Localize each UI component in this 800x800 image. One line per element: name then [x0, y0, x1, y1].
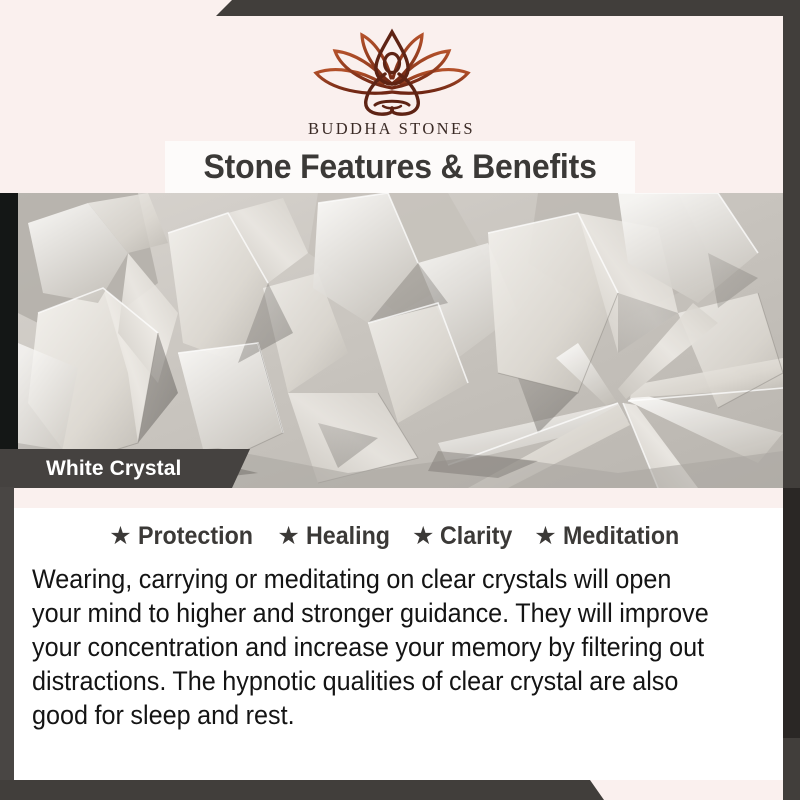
- benefit-label: Healing: [306, 522, 390, 551]
- benefits-row: ★ Protection ★ Healing ★ Clarity ★ Medit…: [14, 517, 783, 555]
- description-paragraph: Wearing, carrying or meditating on clear…: [32, 562, 726, 732]
- brand-name: BUDDHA STONES: [308, 119, 475, 139]
- benefit-label: Clarity: [440, 522, 512, 551]
- benefit-item-healing: ★ Healing: [277, 522, 396, 551]
- photo-caption-label: White Crystal: [46, 457, 182, 481]
- bottom-decorative-bar: [0, 780, 800, 800]
- lotus-meditation-logo-icon: [297, 26, 487, 118]
- top-decorative-bar: [0, 0, 800, 16]
- star-icon: ★: [412, 524, 434, 549]
- photo-left-edge: [0, 193, 18, 488]
- benefit-item-protection: ★ Protection: [109, 522, 261, 551]
- star-icon: ★: [277, 524, 299, 549]
- left-decorative-strip: [0, 487, 14, 800]
- benefit-label: Meditation: [563, 522, 679, 551]
- photo-caption-banner: White Crystal: [0, 449, 250, 488]
- benefit-item-clarity: ★ Clarity: [412, 522, 518, 551]
- title-panel: Stone Features & Benefits: [165, 141, 635, 193]
- infographic-card: BUDDHA STONES Stone Features & Benefits: [0, 0, 800, 800]
- benefit-item-meditation: ★ Meditation: [534, 522, 687, 551]
- star-icon: ★: [109, 524, 131, 549]
- right-decorative-strip-lower: [783, 488, 800, 738]
- star-icon: ★: [534, 524, 556, 549]
- photo-bottom-divider: [14, 488, 783, 508]
- white-crystal-cluster-photo: [18, 193, 783, 488]
- page-title: Stone Features & Benefits: [203, 148, 596, 187]
- benefit-label: Protection: [138, 522, 253, 551]
